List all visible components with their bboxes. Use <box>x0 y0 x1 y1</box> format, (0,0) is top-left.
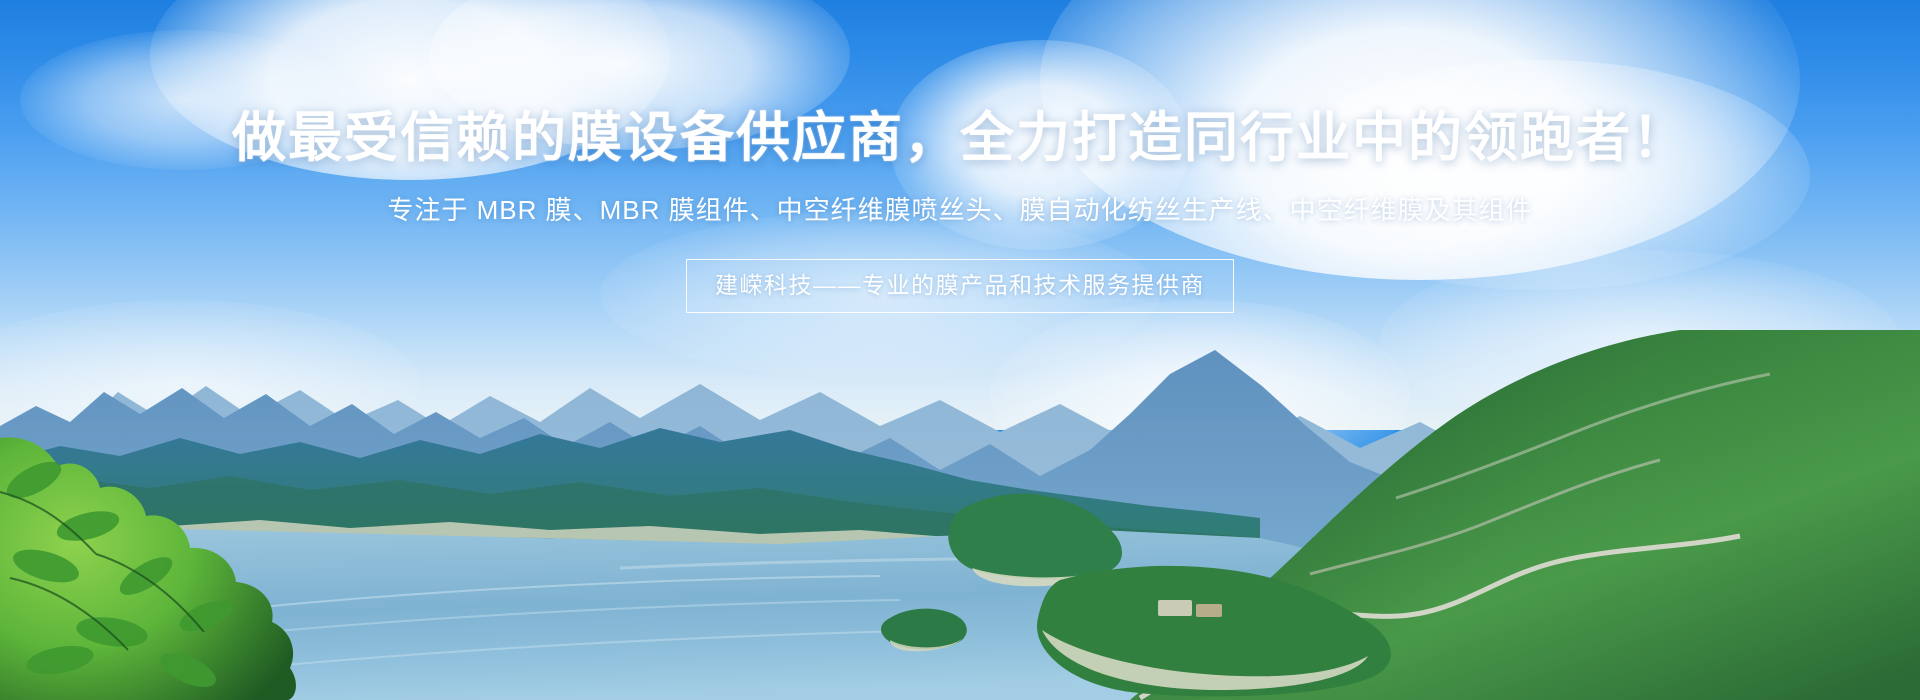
landscape-scene <box>0 330 1920 700</box>
tagline-badge: 建嵘科技——专业的膜产品和技术服务提供商 <box>686 259 1234 314</box>
banner-copy: 做最受信赖的膜设备供应商，全力打造同行业中的领跑者！ 专注于 MBR 膜、MBR… <box>0 0 1920 313</box>
tagline-container: 建嵘科技——专业的膜产品和技术服务提供商 <box>0 229 1920 314</box>
banner-subtitle: 专注于 MBR 膜、MBR 膜组件、中空纤维膜喷丝头、膜自动化纺丝生产线、中空纤… <box>0 168 1920 228</box>
hero-banner: 做最受信赖的膜设备供应商，全力打造同行业中的领跑者！ 专注于 MBR 膜、MBR… <box>0 0 1920 700</box>
page-title: 做最受信赖的膜设备供应商，全力打造同行业中的领跑者！ <box>0 0 1920 168</box>
foreground-foliage <box>0 330 1920 700</box>
